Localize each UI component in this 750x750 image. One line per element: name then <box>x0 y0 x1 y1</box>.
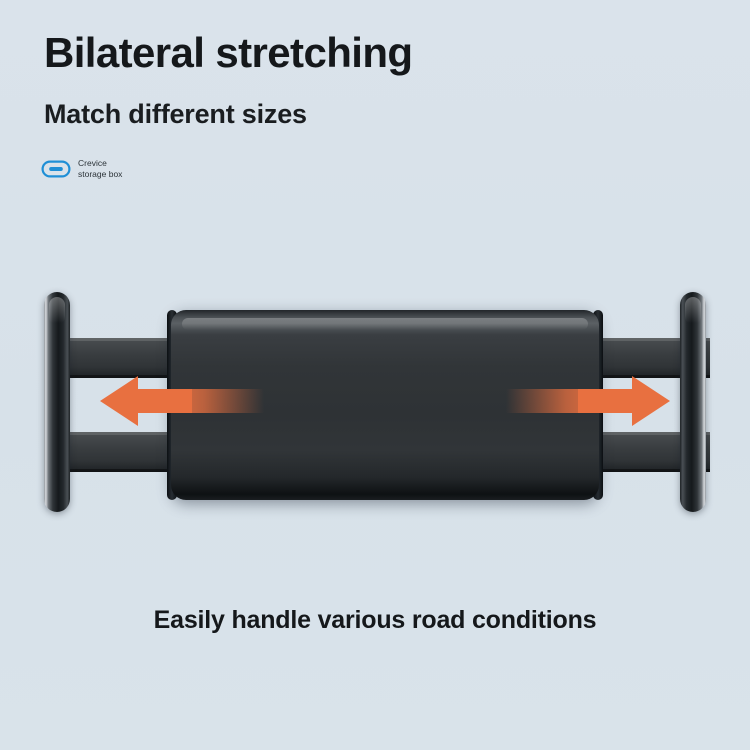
promo-canvas: Bilateral stretching Match different siz… <box>0 0 750 750</box>
feature-badge-line1: Crevice <box>78 158 107 168</box>
right-arrow-tail <box>506 389 598 413</box>
top-right-arm <box>575 338 710 378</box>
feature-badge: Crevice storage box <box>41 158 122 179</box>
top-left-arm <box>62 338 197 378</box>
feature-badge-line2: storage box <box>78 169 122 180</box>
page-subtitle: Match different sizes <box>44 100 307 130</box>
left-arrow-tail <box>172 389 264 413</box>
right-end-cap <box>680 292 706 512</box>
center-body-block <box>171 310 599 500</box>
left-end-cap <box>44 292 70 512</box>
bottom-left-arm <box>62 432 197 472</box>
feature-badge-label: Crevice storage box <box>78 158 122 179</box>
left-stretch-arrow <box>100 376 192 426</box>
crevice-slot-icon <box>41 159 71 179</box>
bottom-right-arm <box>575 432 710 472</box>
right-stretch-arrow <box>578 376 670 426</box>
bottom-caption: Easily handle various road conditions <box>0 606 750 635</box>
body-highlight <box>182 318 588 330</box>
body-right-edge <box>593 310 603 500</box>
body-left-edge <box>167 310 177 500</box>
page-title: Bilateral stretching <box>44 30 412 75</box>
